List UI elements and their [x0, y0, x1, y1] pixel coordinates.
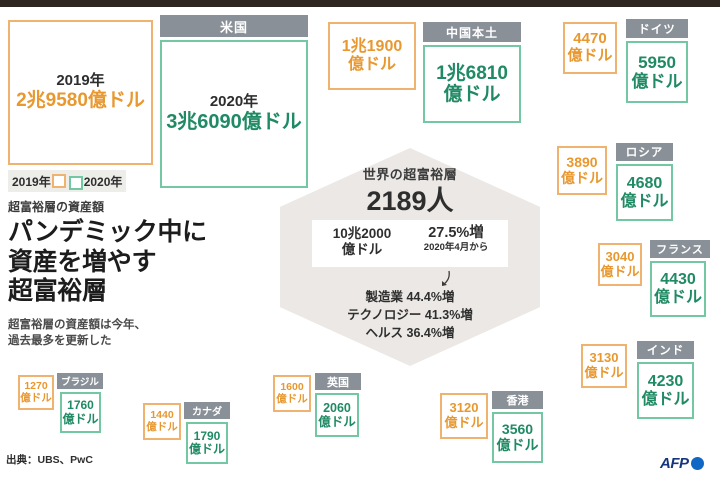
- france-2019-box: 3040 億ドル: [598, 243, 642, 286]
- afp-logo: AFP: [660, 455, 704, 472]
- world-total-wealth: 10兆2000 億ドル: [318, 226, 406, 257]
- russia-2019-box: 3890 億ドル: [557, 146, 607, 195]
- us-2019-year: 2019年: [16, 73, 145, 90]
- legend-swatch-2020: [69, 176, 83, 190]
- hexagon-stat-box: 10兆2000 億ドル 27.5%増 2020年4月から: [312, 220, 508, 267]
- us-label: 米国: [160, 15, 308, 37]
- curved-arrow-icon: [438, 270, 452, 288]
- hongkong-label: 香港: [492, 391, 543, 409]
- infographic-root: 2019年 2兆9580億ドル 米国 2020年 3兆6090億ドル 1兆190…: [0, 0, 720, 480]
- top-accent-bar: [0, 0, 720, 7]
- germany-2019-box: 4470 億ドル: [563, 22, 617, 74]
- india-2020-box: 4230 億ドル: [637, 362, 694, 419]
- china-2020-box: 1兆6810 億ドル: [423, 45, 521, 123]
- world-summary-hexagon: 世界の超富裕層 2189人 10兆2000 億ドル 27.5%増 2020年4月…: [280, 148, 540, 366]
- page-title: パンデミック中に 資産を増やす 超富裕層: [8, 218, 258, 307]
- china-label: 中国本土: [423, 22, 521, 42]
- page-subtitle: 超富裕層の資産額は今年、 過去最多を更新した: [8, 318, 238, 349]
- us-2019-box: 2019年 2兆9580億ドル: [8, 20, 153, 165]
- uk-2019-box: 1600 億ドル: [273, 375, 311, 412]
- india-label: インド: [637, 341, 694, 359]
- world-growth: 27.5%増 2020年4月から: [408, 225, 504, 254]
- growth-pct: 27.5%増: [408, 225, 504, 242]
- china-2019-box: 1兆1900 億ドル: [328, 22, 416, 90]
- legend-label-2020: 2020年: [84, 173, 123, 190]
- india-2019-box: 3130 億ドル: [581, 344, 627, 388]
- us-2019-value: 2兆9580億ドル: [16, 90, 145, 111]
- brazil-label: ブラジル: [57, 373, 103, 389]
- uk-2020-box: 2060 億ドル: [315, 393, 359, 437]
- germany-label: ドイツ: [626, 19, 688, 38]
- brazil-2020-box: 1760 億ドル: [60, 392, 101, 433]
- legend: 2019年 2020年: [8, 170, 126, 192]
- canada-label: カナダ: [184, 402, 230, 419]
- germany-2020-box: 5950 億ドル: [626, 41, 688, 103]
- growth-since: 2020年4月から: [408, 242, 504, 254]
- legend-swatch-2019: [52, 174, 66, 188]
- us-2020-year: 2020年: [166, 94, 302, 111]
- canada-2019-box: 1440 億ドル: [143, 403, 181, 440]
- afp-logo-text: AFP: [660, 455, 689, 472]
- source-credit: 出典：UBS、PwC: [6, 452, 93, 467]
- russia-2020-box: 4680 億ドル: [616, 164, 673, 221]
- sector-growth-list: 製造業 44.4%増 テクノロジー 41.3%増 ヘルス 36.4%増: [280, 288, 540, 342]
- brazil-2019-box: 1270 億ドル: [18, 375, 54, 410]
- hongkong-2019-box: 3120 億ドル: [440, 393, 488, 439]
- legend-caption: 超富裕層の資産額: [8, 198, 104, 215]
- hongkong-2020-box: 3560 億ドル: [492, 412, 543, 463]
- hexagon-count: 2189人: [280, 179, 540, 218]
- us-2020-value: 3兆6090億ドル: [166, 111, 302, 133]
- russia-label: ロシア: [616, 143, 673, 161]
- france-2020-box: 4430 億ドル: [650, 261, 706, 317]
- canada-2020-box: 1790 億ドル: [186, 422, 228, 464]
- uk-label: 英国: [315, 373, 361, 390]
- afp-logo-dot-icon: [691, 457, 704, 470]
- france-label: フランス: [650, 240, 710, 258]
- legend-label-2019: 2019年: [12, 173, 51, 190]
